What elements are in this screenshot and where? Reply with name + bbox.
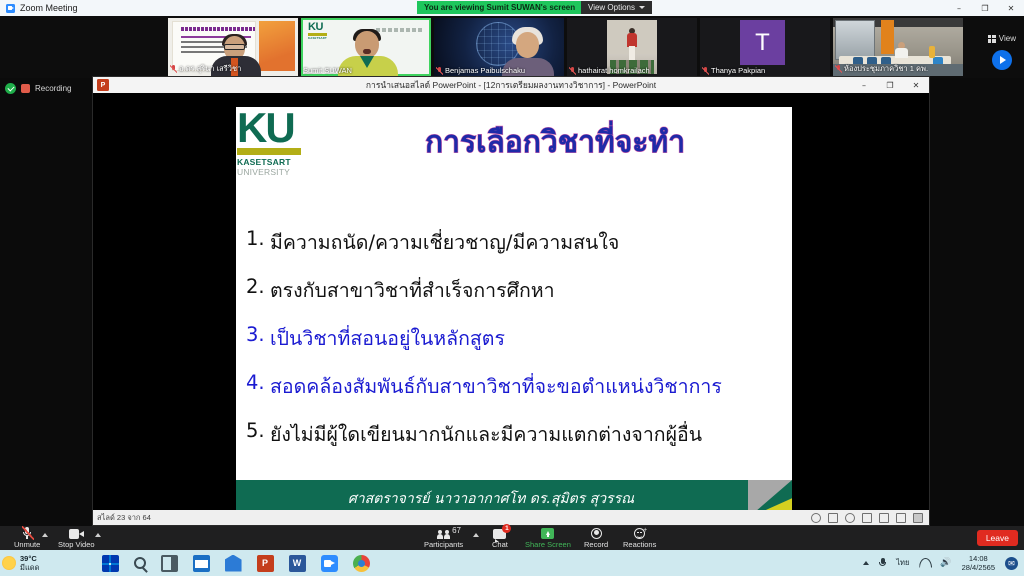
restore-button[interactable]: ❐ [877, 77, 903, 93]
slideshow-view-icon[interactable] [913, 513, 923, 523]
notes-icon[interactable] [828, 513, 838, 523]
record-button-label: Record [584, 540, 608, 549]
search-icon[interactable] [134, 557, 146, 569]
list-item-text: เป็นวิชาที่สอนอยู่ในหลักสูตร [270, 323, 505, 354]
minimize-button[interactable]: – [946, 0, 972, 16]
start-icon[interactable] [102, 555, 119, 572]
list-item-text: สอดคล้องสัมพันธ์กับสาขาวิชาที่จะขอตำแหน่… [270, 371, 722, 402]
leave-meeting-button[interactable]: Leave [977, 530, 1018, 546]
word-icon[interactable]: W [289, 555, 306, 572]
ku-logo-icon: KUKASETSART [308, 23, 328, 40]
thumbnail-list: อ.ดร.สุรินา เสรีวิชา KUKASETSART Sumit S… [168, 18, 963, 76]
speaker-icon[interactable]: 🔊 [940, 558, 951, 568]
viewing-screen-banner: You are viewing Sumit SUWAN's screen [417, 1, 582, 14]
microphone-muted-icon [23, 527, 31, 539]
slide-canvas[interactable]: KU KASETSART UNIVERSITY การเลือกวิชาที่จ… [236, 107, 792, 524]
list-item-number: 4. [246, 371, 270, 402]
maximize-button[interactable]: ❐ [972, 0, 998, 16]
powerpoint-window-controls: – ❐ ✕ [851, 77, 929, 93]
close-button[interactable]: ✕ [903, 77, 929, 93]
chat-button[interactable]: 1 Chat [492, 527, 508, 549]
view-options-label: View Options [588, 3, 635, 12]
mic-muted-icon [835, 65, 841, 73]
slide-footer-text: ศาสตราจารย์ นาวาอากาศโท ดร.สุมิตร สุวรรณ [348, 488, 634, 510]
slide-title: การเลือกวิชาที่จะทำ [326, 125, 784, 161]
people-icon [437, 530, 450, 539]
sunny-icon [2, 556, 16, 570]
camera-icon [69, 529, 84, 539]
participant-video-person [895, 42, 908, 58]
reactions-button[interactable]: + Reactions [623, 527, 656, 549]
participant-nametag: Sumit SUWAN [303, 66, 429, 75]
slide-counter: สไลด์ 23 จาก 64 [97, 512, 151, 524]
chevron-right-circle-icon[interactable] [992, 50, 1012, 70]
participants-options-chevron-icon[interactable] [473, 533, 479, 537]
participant-name: อ.ดร.สุรินา เสรีวิชา [179, 63, 241, 75]
ku-logo-name-line1: KASETSART [237, 157, 315, 167]
clock[interactable]: 14:08 28/4/2565 [962, 554, 995, 572]
clock-time: 14:08 [969, 554, 988, 563]
chrome-icon[interactable] [353, 555, 370, 572]
chat-button-label: Chat [492, 540, 508, 549]
powerpoint-titlebar: P การนำเสนอสไลด์ PowerPoint - [12การเตรี… [93, 77, 929, 93]
participant-name: Benjamas Paibulschaku [445, 66, 525, 75]
mute-button[interactable]: Unmute [14, 527, 40, 549]
slide-sorter-icon[interactable] [879, 513, 889, 523]
participant-nametag: อ.ดร.สุรินา เสรีวิชา [170, 63, 296, 75]
slide-bullet-list: 1. มีความถนัด/ความเชี่ยวชาญ/มีความสนใจ 2… [246, 227, 782, 467]
previous-slide-icon[interactable] [811, 513, 821, 523]
participant-name: ห้องประชุมภาควิชา 1 คพ. [844, 63, 928, 75]
participant-nametag: Thanya Pakpian [702, 66, 828, 75]
video-button-label: Stop Video [58, 540, 95, 549]
weather-temperature: 39°C [20, 554, 37, 563]
task-view-icon[interactable] [161, 555, 178, 572]
record-stop-icon[interactable] [21, 84, 30, 93]
participant-name: Thanya Pakpian [711, 66, 765, 75]
clock-date: 28/4/2565 [962, 563, 995, 572]
participant-name: hathairat homkrailach [578, 66, 650, 75]
grid-view-icon [988, 35, 996, 43]
list-item: 4. สอดคล้องสัมพันธ์กับสาขาวิชาที่จะขอตำแ… [246, 371, 782, 402]
participant-nametag: Benjamas Paibulschaku [436, 66, 562, 75]
list-item: 2. ตรงกับสาขาวิชาที่สำเร็จการศึกหา [246, 275, 782, 306]
keyboard-language-indicator[interactable]: ไทย [896, 557, 909, 569]
powerpoint-statusbar: สไลด์ 23 จาก 64 [93, 510, 929, 525]
list-item-number: 3. [246, 323, 270, 354]
slide-stage: KU KASETSART UNIVERSITY การเลือกวิชาที่จ… [93, 93, 929, 510]
zoom-logo-icon [6, 4, 15, 13]
windows-taskbar: 39°C มีแดด P W ไทย 🔊 14:08 28/4/2565 [0, 550, 1024, 576]
powerpoint-window-title: การนำเสนอสไลด์ PowerPoint - [12การเตรียม… [93, 78, 929, 92]
audio-options-chevron-icon[interactable] [42, 533, 48, 537]
weather-widget[interactable]: 39°C มีแดด [2, 554, 40, 572]
minimize-button[interactable]: – [851, 77, 877, 93]
list-item: 3. เป็นวิชาที่สอนอยู่ในหลักสูตร [246, 323, 782, 354]
system-tray: ไทย 🔊 14:08 28/4/2565 ✉ [863, 554, 1024, 572]
avatar: T [740, 20, 785, 65]
ku-logo-icon: KU KASETSART UNIVERSITY [237, 111, 315, 177]
document-heading-lines [181, 27, 255, 31]
recording-indicator: Recording [5, 83, 71, 94]
share-screen-button-label: Share Screen [525, 540, 571, 549]
chevron-down-icon [639, 6, 645, 9]
emoji-reactions-icon: + [634, 528, 645, 539]
list-item: 1. มีความถนัด/ความเชี่ยวชาญ/มีความสนใจ [246, 227, 782, 258]
video-button[interactable]: Stop Video [58, 527, 95, 549]
mic-muted-icon [569, 67, 575, 75]
participant-thumbnail[interactable]: ห้องประชุมภาควิชา 1 คพ. [833, 18, 963, 76]
mic-muted-icon [436, 67, 442, 75]
reactions-button-label: Reactions [623, 540, 656, 549]
list-item-number: 5. [246, 419, 270, 450]
participant-nametag: hathairat homkrailach [569, 66, 695, 75]
participant-filmstrip: View อ.ดร.สุรินา เสรีวิชา [0, 16, 1024, 78]
list-item-number: 1. [246, 227, 270, 258]
close-button[interactable]: ✕ [998, 0, 1024, 16]
recording-label: Recording [35, 84, 71, 93]
participants-button-label: Participants [424, 540, 463, 549]
share-screen-icon [541, 528, 554, 539]
participant-thumbnail-active[interactable]: KUKASETSART Sumit SUWAN [301, 18, 431, 76]
chevron-up-icon[interactable] [863, 561, 869, 565]
participant-thumbnail[interactable]: T Thanya Pakpian [700, 18, 830, 76]
view-layout-button[interactable]: View [988, 32, 1016, 45]
share-screen-button[interactable]: Share Screen [525, 527, 571, 549]
ku-logo-mark: KU [237, 111, 315, 145]
powerpoint-icon[interactable]: P [257, 555, 274, 572]
room-window-decoration [835, 20, 875, 60]
normal-view-icon[interactable] [862, 513, 872, 523]
record-button[interactable]: Record [584, 527, 608, 549]
powerpoint-window: P การนำเสนอสไลด์ PowerPoint - [12การเตรี… [92, 76, 930, 526]
zoom-window-controls: – ❐ ✕ [946, 0, 1024, 16]
chat-bubble-icon: 1 [493, 529, 506, 539]
weather-condition: มีแดด [20, 563, 40, 572]
ku-logo-name-line2: UNIVERSITY [237, 167, 315, 177]
list-item-number: 2. [246, 275, 270, 306]
list-item-text: มีความถนัด/ความเชี่ยวชาญ/มีความสนใจ [270, 227, 619, 258]
view-button-label: View [999, 34, 1016, 43]
screen-root: Zoom Meeting – ❐ ✕ You are viewing Sumit… [0, 0, 1024, 576]
mic-muted-icon [702, 67, 708, 75]
participants-button[interactable]: 67 Participants [424, 527, 463, 549]
taskbar-app-icons: P W [102, 555, 370, 572]
zoom-meeting-toolbar: Unmute Stop Video 67 Participants 1 [0, 526, 1024, 550]
video-options-chevron-icon[interactable] [95, 533, 101, 537]
mail-icon[interactable] [193, 555, 210, 572]
store-icon[interactable] [225, 555, 242, 572]
list-item-text: ยังไม่มีผู้ใดเขียนมากนักและมีความแตกต่าง… [270, 419, 702, 450]
reading-view-icon[interactable] [896, 513, 906, 523]
record-icon [591, 528, 602, 539]
participant-name: Sumit SUWAN [303, 66, 352, 75]
mic-muted-icon [170, 65, 176, 73]
participant-thumbnail[interactable]: อ.ดร.สุรินา เสรีวิชา [168, 18, 298, 76]
zoom-icon[interactable] [321, 555, 338, 572]
notification-icon[interactable]: ✉ [1005, 557, 1018, 570]
participant-thumbnail[interactable]: hathairat homkrailach [567, 18, 697, 76]
wifi-icon[interactable] [919, 559, 930, 568]
powerpoint-view-controls [811, 510, 923, 525]
participant-nametag: ห้องประชุมภาควิชา 1 คพ. [835, 63, 961, 75]
green-shield-check-icon[interactable] [5, 83, 16, 94]
microphone-icon[interactable] [879, 558, 886, 568]
chat-unread-badge: 1 [502, 524, 511, 533]
mute-button-label: Unmute [14, 540, 40, 549]
list-item: 5. ยังไม่มีผู้ใดเขียนมากนักและมีความแตกต… [246, 419, 782, 450]
view-options-button[interactable]: View Options [581, 1, 652, 14]
next-slide-icon[interactable] [845, 513, 855, 523]
list-item-text: ตรงกับสาขาวิชาที่สำเร็จการศึกหา [270, 275, 555, 306]
participant-thumbnail[interactable]: Benjamas Paibulschaku [434, 18, 564, 76]
participants-count: 67 [452, 526, 461, 535]
